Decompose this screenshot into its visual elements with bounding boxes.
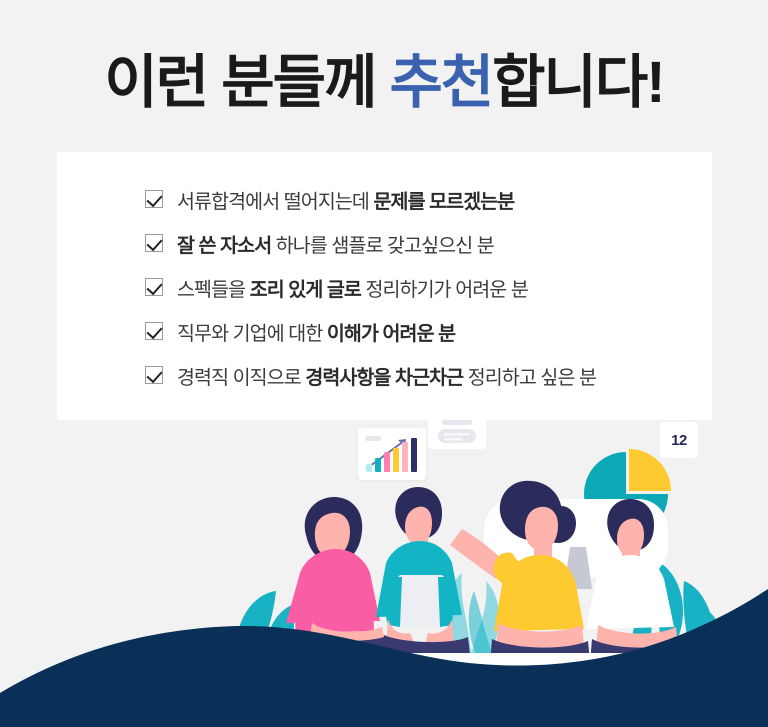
list-item-plain-before: 서류합격에서 떨어지는데 — [177, 191, 373, 213]
list-item-plain-before: 경력직 이직으로 — [177, 367, 305, 389]
list-item-bold: 이해가 어려운 분 — [327, 323, 455, 345]
checkbox-checked-icon — [145, 190, 163, 208]
list-item: 잘 쓴 자소서 하나를 샘플로 갖고싶으신 분 — [145, 222, 705, 264]
list-item: 스펙들을 조리 있게 글로 정리하기가 어려운 분 — [145, 266, 705, 308]
wave-shape — [0, 589, 768, 727]
list-item: 직무와 기업에 대한 이해가 어려운 분 — [145, 310, 705, 352]
list-item-label: 잘 쓴 자소서 하나를 샘플로 갖고싶으신 분 — [177, 229, 494, 258]
title-highlight: 추천 — [389, 50, 492, 115]
checklist-card: 서류합격에서 떨어지는데 문제를 모르겠는분 잘 쓴 자소서 하나를 샘플로 갖… — [57, 152, 712, 420]
list-item-label: 서류합격에서 떨어지는데 문제를 모르겠는분 — [177, 185, 514, 214]
list-item-plain-after: 정리하기가 어려운 분 — [361, 279, 528, 301]
list-item-label: 경력직 이직으로 경력사항을 차근차근 정리하고 싶은 분 — [177, 361, 596, 390]
bar-chart-card — [358, 428, 426, 480]
list-item-label: 직무와 기업에 대한 이해가 어려운 분 — [177, 317, 455, 346]
page-title-text: 이런 분들께 추천합니다! — [104, 52, 663, 115]
list-item-label: 스펙들을 조리 있게 글로 정리하기가 어려운 분 — [177, 273, 528, 302]
checkbox-checked-icon — [145, 366, 163, 384]
number-card: 12 — [660, 422, 698, 458]
list-item-plain-after: 하나를 샘플로 갖고싶으신 분 — [271, 235, 494, 257]
page-title: 이런 분들께 추천합니다! — [0, 52, 768, 115]
list-item-bold: 조리 있게 글로 — [250, 279, 361, 301]
promo-page: 이런 분들께 추천합니다! 서류합격에서 떨어지는데 문제를 모르겠는분 잘 쓴… — [0, 0, 768, 727]
list-item-bold: 잘 쓴 자소서 — [177, 235, 271, 257]
checkbox-checked-icon — [145, 234, 163, 252]
list-item-plain-after: 정리하고 싶은 분 — [463, 367, 596, 389]
list-item: 경력직 이직으로 경력사항을 차근차근 정리하고 싶은 분 — [145, 354, 705, 396]
bottom-wave — [0, 587, 768, 727]
list-item: 서류합격에서 떨어지는데 문제를 모르겠는분 — [145, 178, 705, 220]
title-suffix: 합니다! — [492, 50, 663, 115]
number-card-value: 12 — [671, 432, 687, 449]
checkbox-checked-icon — [145, 322, 163, 340]
title-prefix: 이런 분들께 — [104, 50, 389, 115]
document-card — [428, 415, 486, 449]
list-item-bold: 문제를 모르겠는분 — [373, 191, 514, 213]
checklist: 서류합격에서 떨어지는데 문제를 모르겠는분 잘 쓴 자소서 하나를 샘플로 갖… — [145, 178, 705, 398]
chart-card-title-bar — [365, 436, 381, 441]
list-item-plain-before: 스펙들을 — [177, 279, 250, 301]
list-item-bold: 경력사항을 차근차근 — [305, 367, 463, 389]
list-item-plain-before: 직무와 기업에 대한 — [177, 323, 327, 345]
checkbox-checked-icon — [145, 278, 163, 296]
